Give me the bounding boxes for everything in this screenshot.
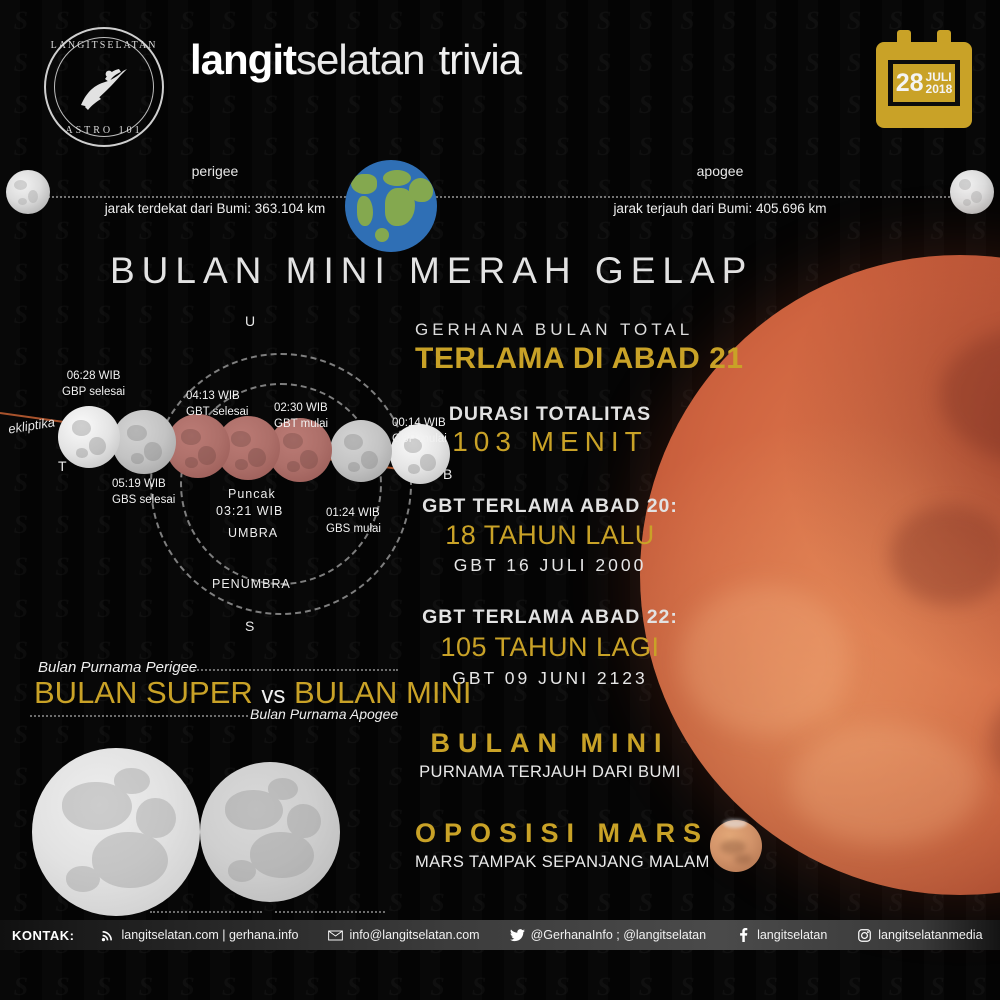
instagram-icon <box>857 928 872 943</box>
perigee-moon <box>6 170 50 214</box>
event-name: GBP selesai <box>62 386 125 398</box>
apogee-distance: jarak terjauh dari Bumi: 405.696 km <box>590 201 850 216</box>
contact-email[interactable]: info@langitselatan.com <box>328 928 479 943</box>
email-icon <box>328 928 343 943</box>
peak-time: 03:21 WIB <box>216 504 283 518</box>
contact-twitter-text: @GerhanaInfo ; @langitselatan <box>531 928 706 942</box>
comparison-title-left: BULAN SUPER <box>34 675 253 710</box>
minimoon-subtitle: PURNAMA TERJAUH DARI BUMI <box>415 763 685 782</box>
size-metric-dotline <box>150 911 262 913</box>
penumbra-label: PENUMBRA <box>212 577 291 591</box>
century20-date: GBT 16 JULI 2000 <box>415 555 685 576</box>
minimoon-disc <box>200 762 340 902</box>
page-title: BULAN MINI MERAH GELAP <box>110 250 753 292</box>
contact-facebook-text: langitselatan <box>757 928 827 942</box>
brand-light-text: selatan <box>296 36 424 83</box>
rss-icon <box>100 928 115 943</box>
event-label-gbt-selesai: 04:13 WIB GBT selesai <box>186 389 248 420</box>
comparison-top-dotline <box>178 669 398 671</box>
eclipse-headline: TERLAMA DI ABAD 21 <box>415 342 685 376</box>
contact-label: KONTAK: <box>12 928 74 943</box>
brand-title: langitselatantrivia <box>190 36 521 84</box>
event-name: GBS selesai <box>112 494 175 506</box>
event-name: GBT selesai <box>186 406 248 418</box>
mars-title: OPOSISI MARS <box>415 818 685 849</box>
moon-craters <box>950 170 994 214</box>
contact-website-text: langitselatan.com | gerhana.info <box>121 928 298 942</box>
earth-globe-icon <box>345 160 437 252</box>
infographic-poster: SSSSSSSSSSSSSSSSSSSSSSSSSSSSSSSSSSSSSSSS… <box>0 0 1000 1000</box>
supermoon-disc <box>32 748 200 916</box>
axis-label-north: U <box>245 313 255 329</box>
moon-maria <box>32 748 200 916</box>
calendar-day: 28 <box>896 71 924 96</box>
bright-metric-dotline <box>275 911 385 913</box>
contact-footer-bar: KONTAK: langitselatan.com | gerhana.info… <box>0 920 1000 950</box>
comparison-title-vs: vs <box>261 682 285 709</box>
event-label-gbt-mulai: 02:30 WIB GBT mulai <box>274 401 328 432</box>
event-label-gbs-mulai: 01:24 WIB GBS mulai <box>326 506 381 537</box>
contact-twitter[interactable]: @GerhanaInfo ; @langitselatan <box>510 928 706 943</box>
moon-maria <box>200 762 340 902</box>
event-time: 04:13 WIB <box>186 390 240 402</box>
calendar-month-year: JULI 2018 <box>926 71 953 95</box>
eclipse-kicker: GERHANA BULAN TOTAL <box>415 320 685 340</box>
apogee-dotted-line <box>436 196 954 198</box>
axis-label-west: T <box>58 458 67 474</box>
event-time: 01:24 WIB <box>326 507 380 519</box>
comparison-top-caption: Bulan Purnama Perigee <box>38 659 197 676</box>
moon-phase-gbs-selesai <box>112 410 176 474</box>
century22-label: GBT TERLAMA ABAD 22: <box>415 606 685 629</box>
century20-value: 18 TAHUN LALU <box>415 520 685 551</box>
event-label-gbp-selesai: 06:28 WIB GBP selesai <box>62 369 125 400</box>
contact-instagram[interactable]: langitselatanmedia <box>857 928 982 943</box>
event-time: 06:28 WIB <box>67 370 121 382</box>
moon-craters <box>6 170 50 214</box>
mars-planet-illustration <box>710 820 762 872</box>
event-time: 05:19 WIB <box>112 478 166 490</box>
seal-top-text: LANGITSELATAN <box>40 40 168 51</box>
brand-trivia-text: trivia <box>438 36 521 83</box>
horse-rider-icon <box>71 61 137 113</box>
apogee-moon <box>950 170 994 214</box>
minimoon-title: BULAN MINI <box>415 728 685 759</box>
comparison-bottom-dotline <box>30 715 248 717</box>
brand-bold-text: langit <box>190 36 296 83</box>
contact-instagram-text: langitselatanmedia <box>878 928 982 942</box>
moon-phase-gbp-selesai <box>58 406 120 468</box>
event-time: 02:30 WIB <box>274 402 328 414</box>
langitselatan-seal-logo: LANGITSELATAN ASTRO 101 <box>40 23 168 151</box>
mars-subtitle: MARS TAMPAK SEPANJANG MALAM <box>415 853 685 872</box>
mars-polar-cap <box>723 819 747 828</box>
moon-phase-gbs-mulai <box>330 420 392 482</box>
calendar-window: 28 JULI 2018 <box>888 60 960 106</box>
seal-bottom-text: ASTRO 101 <box>40 125 168 136</box>
facebook-icon <box>736 928 751 943</box>
ecliptic-label: ekliptika <box>7 414 56 436</box>
contact-facebook[interactable]: langitselatan <box>736 928 827 943</box>
duration-label: DURASI TOTALITAS <box>415 403 685 426</box>
perigee-label: perigee <box>115 163 315 179</box>
century20-label: GBT TERLAMA ABAD 20: <box>415 495 685 518</box>
umbra-label: UMBRA <box>228 526 278 540</box>
perigee-distance: jarak terdekat dari Bumi: 363.104 km <box>85 201 345 216</box>
calendar-date-plate: 28 JULI 2018 <box>893 64 955 102</box>
event-name: GBT mulai <box>274 418 328 430</box>
century22-value: 105 TAHUN LAGI <box>415 632 685 663</box>
calendar-date-icon: 28 JULI 2018 <box>876 30 972 128</box>
comparison-bottom-caption: Bulan Purnama Apogee <box>250 706 398 722</box>
peak-label: Puncak <box>228 487 276 501</box>
apogee-label: apogee <box>620 163 820 179</box>
axis-label-south: S <box>245 618 254 634</box>
comparison-title-right: BULAN MINI <box>294 675 471 710</box>
contact-website[interactable]: langitselatan.com | gerhana.info <box>100 928 298 943</box>
twitter-icon <box>510 928 525 943</box>
event-name: GBS mulai <box>326 523 381 535</box>
calendar-year: 2018 <box>926 83 953 95</box>
perigee-dotted-line <box>44 196 346 198</box>
contact-email-text: info@langitselatan.com <box>349 928 479 942</box>
event-label-gbs-selesai: 05:19 WIB GBS selesai <box>112 477 175 508</box>
duration-value: 103 MENIT <box>415 426 685 458</box>
